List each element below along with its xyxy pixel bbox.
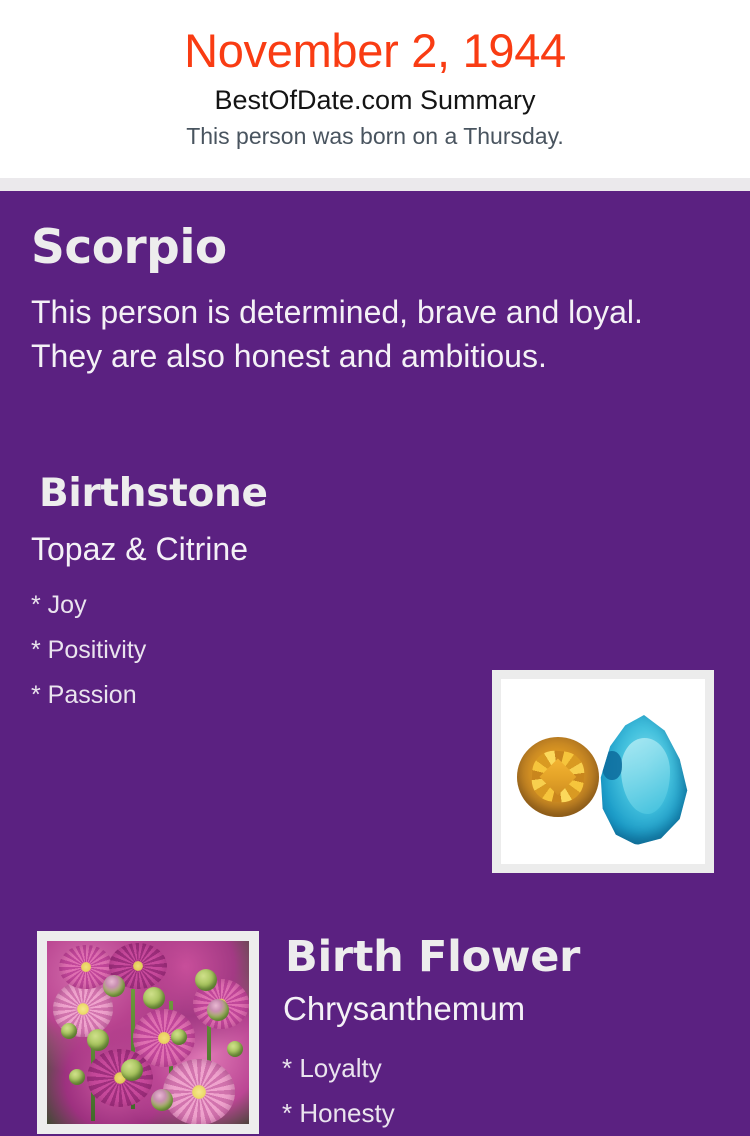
flower-bud — [227, 1041, 243, 1057]
list-item: * Joy — [31, 583, 146, 628]
flower-bud — [195, 969, 217, 991]
zodiac-description: This person is determined, brave and loy… — [31, 291, 701, 378]
citrine-gem-icon — [517, 737, 599, 817]
list-item: * Positivity — [31, 628, 146, 673]
list-item: * Passion — [31, 673, 146, 718]
birthstone-name: Topaz & Citrine — [31, 533, 248, 565]
birth-flower-photo — [47, 941, 249, 1124]
birthstone-photo — [501, 679, 705, 864]
birthstone-traits-list: * Joy * Positivity * Passion — [31, 583, 146, 718]
birthstone-heading: Birthstone — [39, 474, 268, 513]
birth-flower-photo-frame — [37, 931, 259, 1134]
flower-bud — [69, 1069, 85, 1085]
flower-bud — [171, 1029, 187, 1045]
chrysanthemum-bloom — [87, 1049, 153, 1107]
list-item: * Loyalty — [282, 1046, 395, 1091]
birthday-summary-page: November 2, 1944 BestOfDate.com Summary … — [0, 0, 750, 1000]
zodiac-sign-name: Scorpio — [31, 224, 227, 271]
flower-bud — [121, 1059, 143, 1081]
birth-flower-traits-list: * Loyalty * Honesty — [282, 1046, 395, 1136]
flower-bud — [207, 999, 229, 1021]
list-item: * Honesty — [282, 1091, 395, 1136]
summary-panel: Scorpio This person is determined, brave… — [0, 191, 750, 1000]
flower-bud — [87, 1029, 109, 1051]
blue-topaz-gem-icon — [597, 715, 691, 845]
flower-bud — [143, 987, 165, 1009]
birth-flower-heading: Birth Flower — [285, 936, 580, 979]
header-divider — [0, 178, 750, 191]
flower-bud — [61, 1023, 77, 1039]
birthstone-photo-frame — [492, 670, 714, 873]
chrysanthemum-bloom — [163, 1059, 235, 1124]
birth-flower-name: Chrysanthemum — [283, 992, 525, 1025]
flower-bud — [103, 975, 125, 997]
flower-bud — [151, 1089, 173, 1111]
page-header: November 2, 1944 BestOfDate.com Summary … — [0, 0, 750, 178]
page-title: November 2, 1944 — [0, 0, 750, 75]
weekday-note: This person was born on a Thursday. — [0, 116, 750, 149]
site-subtitle: BestOfDate.com Summary — [0, 75, 750, 116]
